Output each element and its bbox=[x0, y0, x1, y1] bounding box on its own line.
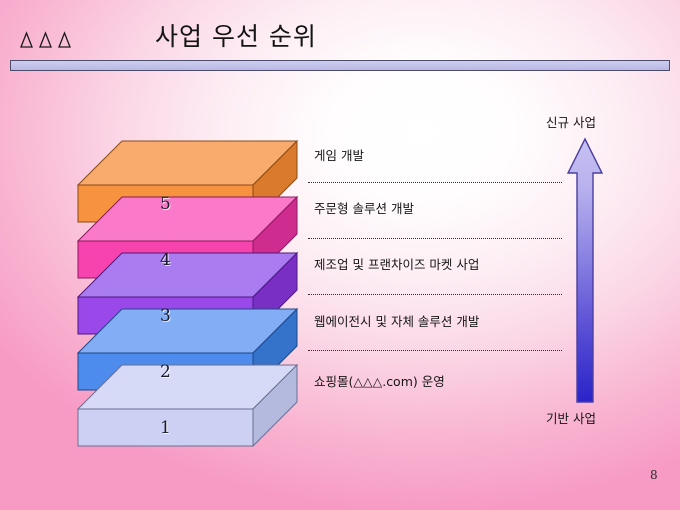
logo-triangles-icon bbox=[18, 28, 98, 52]
slab-front-face bbox=[78, 353, 253, 390]
level-label-3: 제조업 및 프랜차이즈 마켓 사업 bbox=[314, 254, 479, 273]
slab-top-face bbox=[78, 365, 297, 409]
level-label-1: 쇼핑몰(△△△.com) 운영 bbox=[314, 371, 445, 390]
title-underline-bar bbox=[10, 60, 670, 71]
arrow-top-label: 신규 사업 bbox=[546, 112, 596, 131]
arrow-bottom-label: 기반 사업 bbox=[546, 408, 596, 427]
slab-top-face bbox=[78, 253, 297, 297]
page-title: 사업 우선 순위 bbox=[155, 17, 317, 53]
slab-top-face bbox=[78, 309, 297, 353]
level-divider-2 bbox=[308, 238, 562, 239]
slab-side-face bbox=[253, 253, 297, 334]
level-divider-3 bbox=[308, 294, 562, 295]
slab-front-face bbox=[78, 409, 253, 446]
level-divider-4 bbox=[308, 350, 562, 351]
slab-top-face bbox=[78, 197, 297, 241]
slab-side-face bbox=[253, 197, 297, 278]
slab-front-face bbox=[78, 241, 253, 278]
slab-number-2: 2 bbox=[160, 362, 171, 382]
pyramid-slab-5[interactable] bbox=[78, 141, 297, 222]
level-label-5: 게임 개발 bbox=[314, 145, 364, 164]
slab-front-face bbox=[78, 185, 253, 222]
slab-number-1: 1 bbox=[160, 418, 171, 438]
slide-canvas: 사업 우선 순위 5 4 3 2 1 게임 개발 주문형 솔루션 개발 제조업 … bbox=[0, 0, 680, 510]
pyramid-slab-4[interactable] bbox=[78, 197, 297, 278]
level-divider-1 bbox=[308, 182, 562, 183]
slab-number-3: 3 bbox=[160, 306, 171, 326]
slab-side-face bbox=[253, 141, 297, 222]
slab-side-face bbox=[253, 309, 297, 390]
slab-top-face bbox=[78, 141, 297, 185]
level-label-2: 웹에이전시 및 자체 솔루션 개발 bbox=[314, 311, 479, 330]
growth-arrow-icon bbox=[563, 137, 607, 405]
slab-side-face bbox=[253, 365, 297, 446]
pyramid-slab-3[interactable] bbox=[78, 253, 297, 334]
slab-front-face bbox=[78, 297, 253, 334]
slab-number-4: 4 bbox=[160, 250, 171, 270]
level-label-4: 주문형 솔루션 개발 bbox=[314, 198, 414, 217]
pyramid-slab-1[interactable] bbox=[78, 365, 297, 446]
page-number: 8 bbox=[650, 468, 658, 482]
pyramid-slab-2[interactable] bbox=[78, 309, 297, 390]
slab-number-5: 5 bbox=[160, 194, 171, 214]
